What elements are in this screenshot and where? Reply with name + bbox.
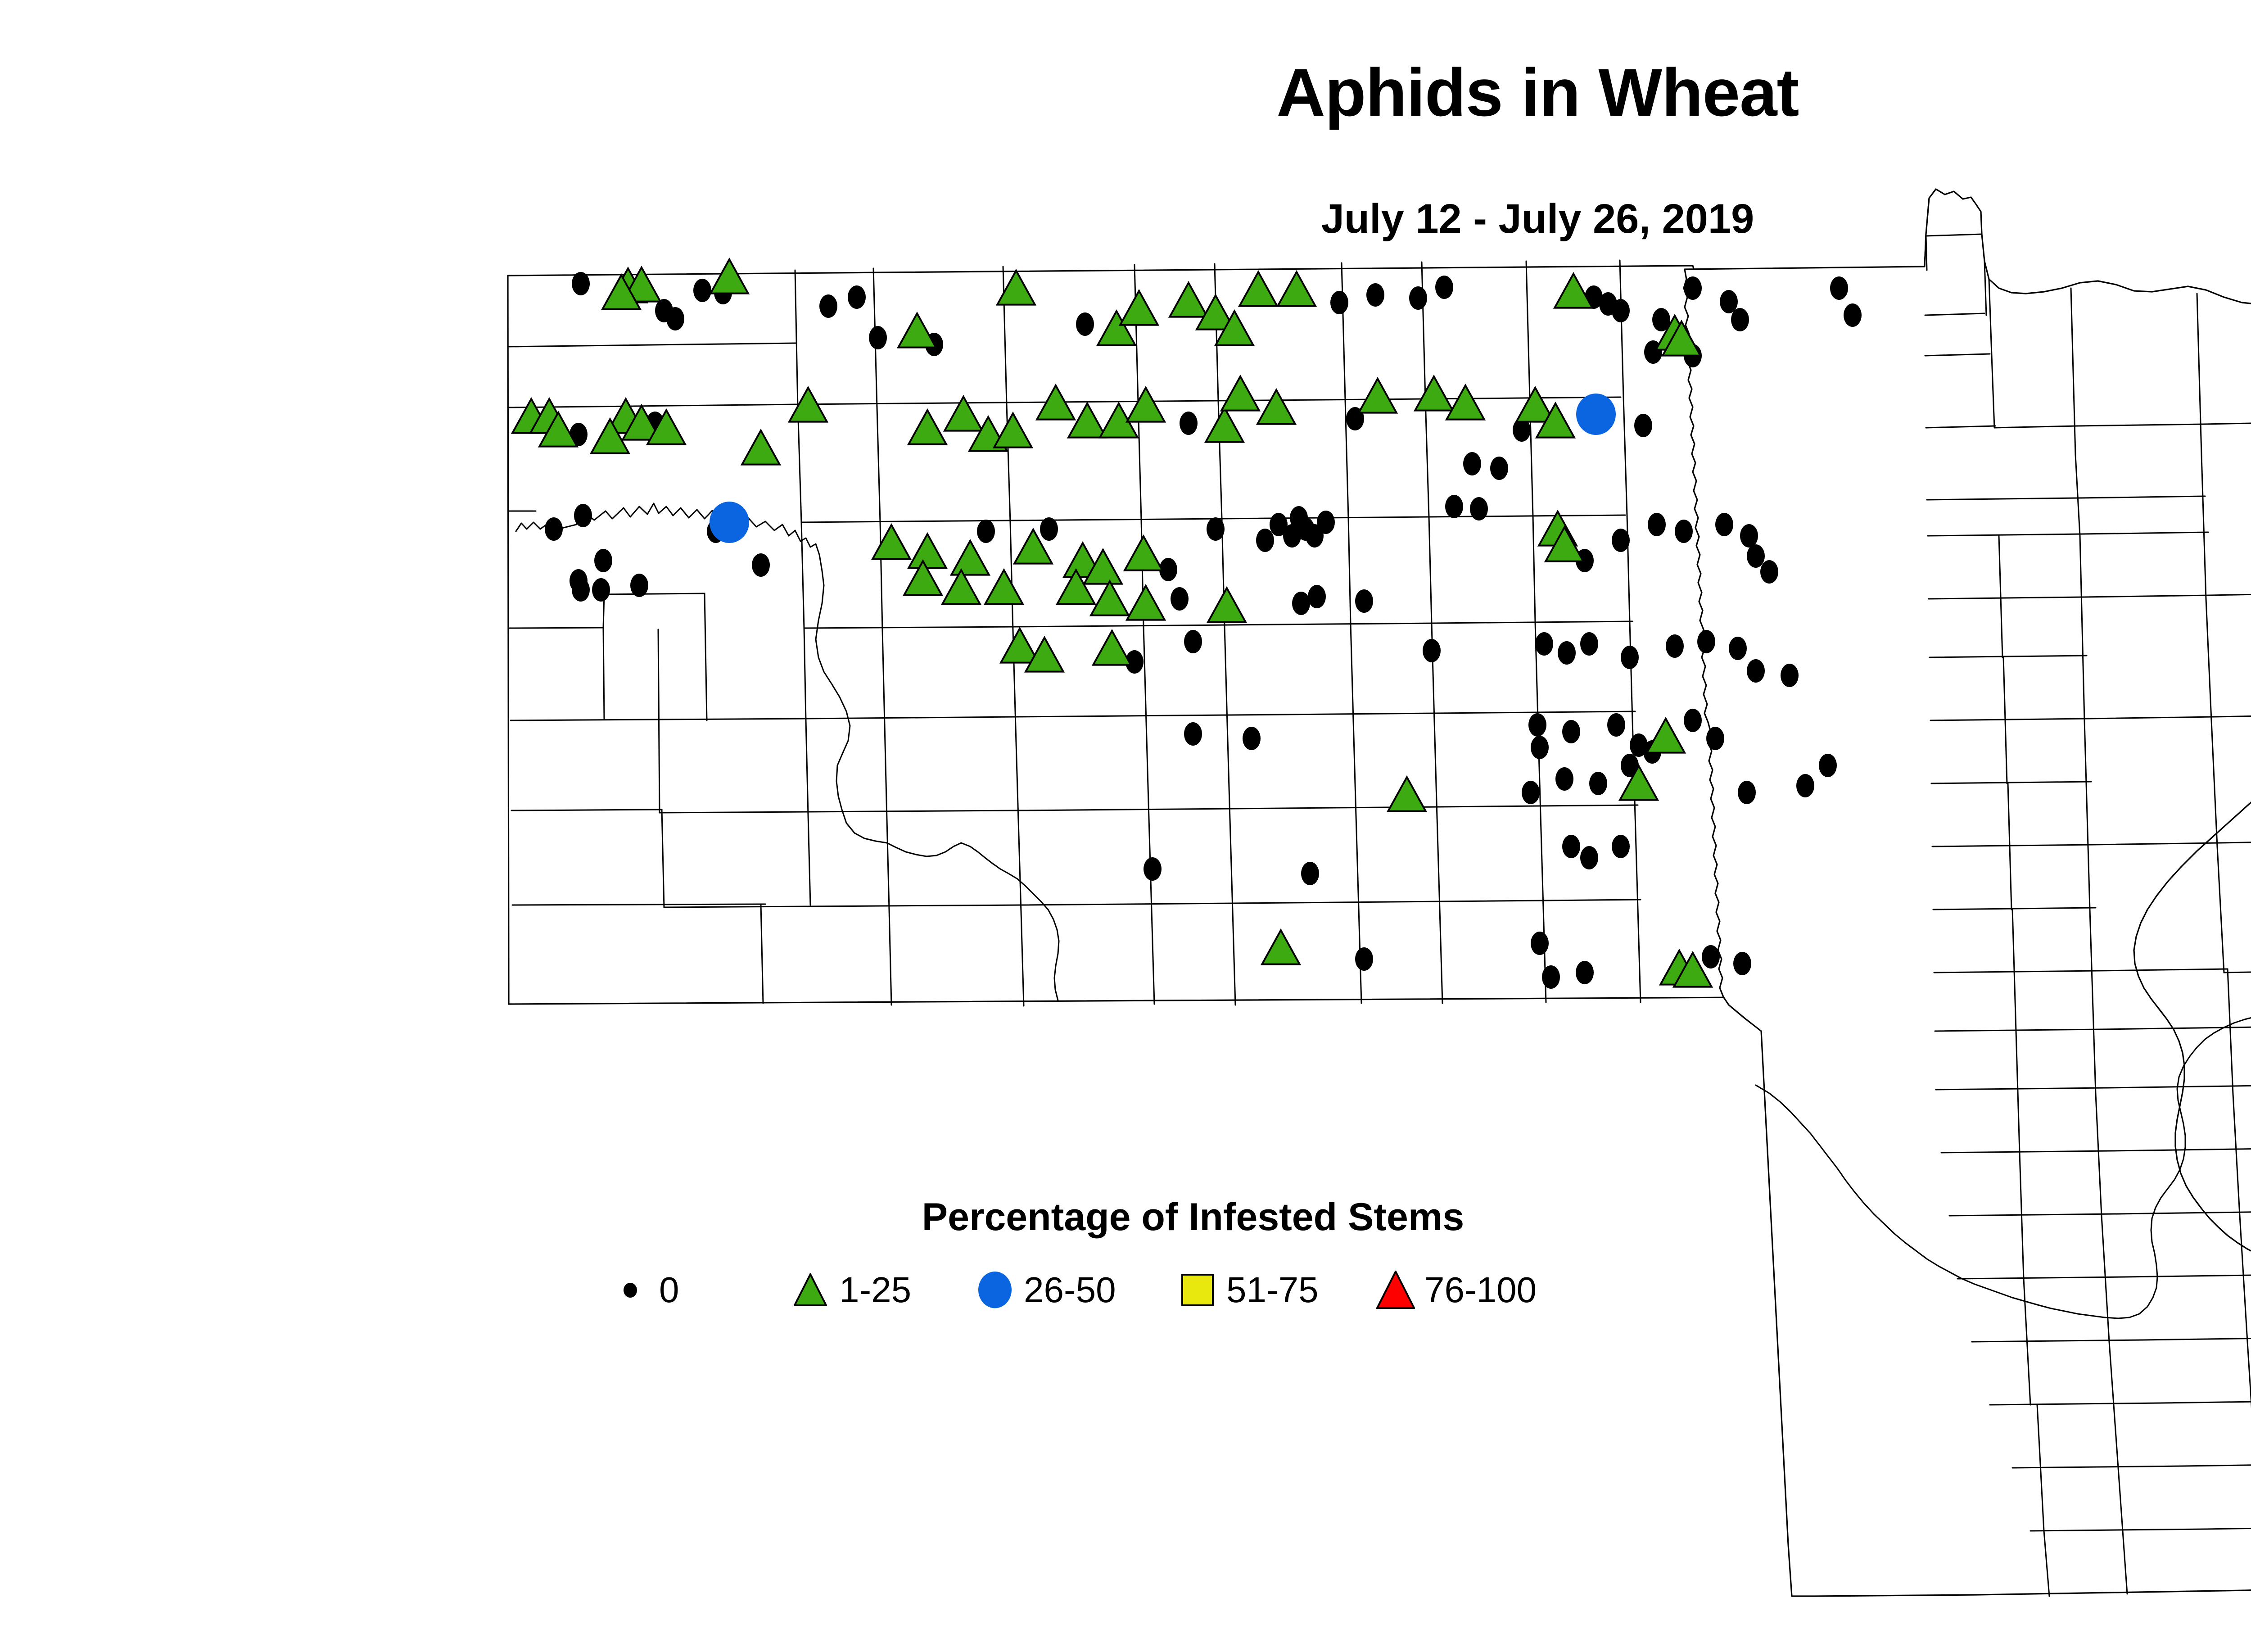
marker-zero xyxy=(1445,495,1463,518)
marker-zero xyxy=(1702,945,1720,969)
marker-zero xyxy=(1715,513,1733,536)
legend-label: 76-100 xyxy=(1424,1272,1537,1308)
marker-zero xyxy=(1330,291,1348,314)
marker-zero xyxy=(1576,961,1594,984)
map-canvas xyxy=(0,0,2251,1652)
marker-zero xyxy=(1621,646,1639,669)
black-dot-icon xyxy=(608,1267,653,1313)
marker-zero xyxy=(869,326,887,349)
marker-zero xyxy=(630,574,648,597)
marker-zero xyxy=(1607,713,1625,737)
marker-zero xyxy=(1733,952,1751,975)
legend-item-51-75[interactable]: 51-75 xyxy=(1175,1263,1319,1317)
marker-zero xyxy=(1555,767,1573,791)
marker-zero xyxy=(1612,529,1630,552)
marker-zero xyxy=(1684,709,1702,732)
marker-zero xyxy=(1301,862,1319,885)
minnesota-state xyxy=(1684,189,2251,1596)
marker-medium xyxy=(1576,394,1616,435)
marker-zero xyxy=(1706,727,1724,750)
yellow-square-icon xyxy=(1175,1267,1220,1313)
marker-zero xyxy=(1144,857,1162,881)
marker-zero xyxy=(1562,720,1580,743)
marker-zero xyxy=(1580,632,1598,656)
marker-zero xyxy=(1040,517,1058,541)
marker-zero xyxy=(1740,524,1758,548)
marker-zero xyxy=(572,578,590,602)
marker-zero xyxy=(1308,585,1326,608)
marker-zero xyxy=(1207,517,1225,541)
marker-zero xyxy=(574,504,592,527)
marker-zero xyxy=(1317,511,1335,534)
marker-zero xyxy=(1409,286,1427,310)
marker-zero xyxy=(1076,312,1094,336)
marker-zero xyxy=(1528,713,1546,737)
north-dakota-state xyxy=(508,266,1742,1004)
marker-zero xyxy=(1781,664,1799,687)
marker-zero xyxy=(1184,722,1202,746)
marker-zero xyxy=(977,520,995,543)
marker-zero xyxy=(1747,544,1765,568)
legend-label: 26-50 xyxy=(1024,1272,1116,1308)
marker-zero xyxy=(1535,632,1553,656)
marker-zero xyxy=(1684,276,1702,300)
legend-label: 51-75 xyxy=(1226,1272,1319,1308)
marker-zero xyxy=(1612,835,1630,858)
marker-zero xyxy=(848,285,866,309)
marker-zero xyxy=(666,307,684,330)
marker-zero xyxy=(1355,947,1373,971)
marker-zero xyxy=(1366,283,1384,307)
legend-label: 1-25 xyxy=(839,1272,911,1308)
marker-zero xyxy=(1648,513,1666,536)
marker-zero xyxy=(1580,846,1598,869)
legend-item-0[interactable]: 0 xyxy=(608,1263,679,1317)
blue-circle-icon xyxy=(972,1267,1017,1313)
marker-zero xyxy=(1796,774,1814,797)
marker-medium xyxy=(710,502,749,543)
marker-zero xyxy=(1522,781,1540,804)
marker-zero xyxy=(1760,560,1778,584)
marker-zero xyxy=(1697,630,1715,653)
marker-zero xyxy=(1634,414,1652,437)
marker-zero xyxy=(594,549,612,572)
legend-item-76-100[interactable]: 76-100 xyxy=(1373,1263,1537,1317)
marker-zero xyxy=(1747,659,1765,683)
legend-title: Percentage of Infested Stems xyxy=(608,1198,1778,1236)
marker-zero xyxy=(1731,308,1749,331)
green-triangle-icon xyxy=(788,1267,833,1313)
marker-zero xyxy=(545,517,563,541)
marker-zero xyxy=(1171,587,1189,611)
marker-zero xyxy=(1180,412,1198,435)
marker-zero xyxy=(1184,630,1202,653)
marker-zero xyxy=(1562,835,1580,858)
map-svg xyxy=(0,0,2251,1652)
marker-zero xyxy=(752,553,770,577)
map-legend: Percentage of Infested Stems 01-2526-505… xyxy=(608,1198,1778,1315)
marker-zero xyxy=(1738,781,1756,804)
marker-zero xyxy=(1542,965,1560,989)
marker-zero xyxy=(1612,299,1630,322)
marker-zero xyxy=(1423,639,1441,662)
marker-zero xyxy=(1470,497,1488,520)
marker-zero xyxy=(693,279,711,302)
legend-items-row: 01-2526-5051-7576-100 xyxy=(608,1263,1778,1317)
aphids-in-wheat-map-figure: Aphids in Wheat July 12 - July 26, 2019 xyxy=(0,0,2251,1652)
marker-zero xyxy=(1490,457,1508,480)
marker-zero xyxy=(1666,634,1684,658)
legend-label: 0 xyxy=(659,1272,679,1308)
marker-zero xyxy=(1830,276,1848,300)
marker-zero xyxy=(1292,592,1310,615)
marker-zero xyxy=(1675,520,1693,543)
minnesota-outline xyxy=(1684,189,2251,1596)
north-dakota-outline xyxy=(508,266,1742,1004)
red-triangle-icon xyxy=(1373,1267,1418,1313)
marker-zero xyxy=(1256,529,1274,552)
marker-zero xyxy=(1558,641,1576,665)
marker-zero xyxy=(1463,452,1481,475)
marker-zero xyxy=(1435,276,1453,299)
marker-zero xyxy=(1819,754,1837,777)
marker-zero xyxy=(1729,637,1747,660)
marker-zero xyxy=(1355,589,1373,613)
marker-zero xyxy=(572,272,590,295)
legend-item-1-25[interactable]: 1-25 xyxy=(788,1263,911,1317)
marker-zero xyxy=(1589,772,1607,795)
marker-zero xyxy=(1243,727,1261,750)
marker-zero xyxy=(1720,290,1738,313)
marker-zero xyxy=(1531,736,1549,759)
legend-item-26-50[interactable]: 26-50 xyxy=(972,1263,1116,1317)
marker-zero xyxy=(1531,932,1549,955)
marker-zero xyxy=(819,294,837,318)
marker-zero xyxy=(592,578,610,602)
marker-zero xyxy=(1844,303,1862,327)
